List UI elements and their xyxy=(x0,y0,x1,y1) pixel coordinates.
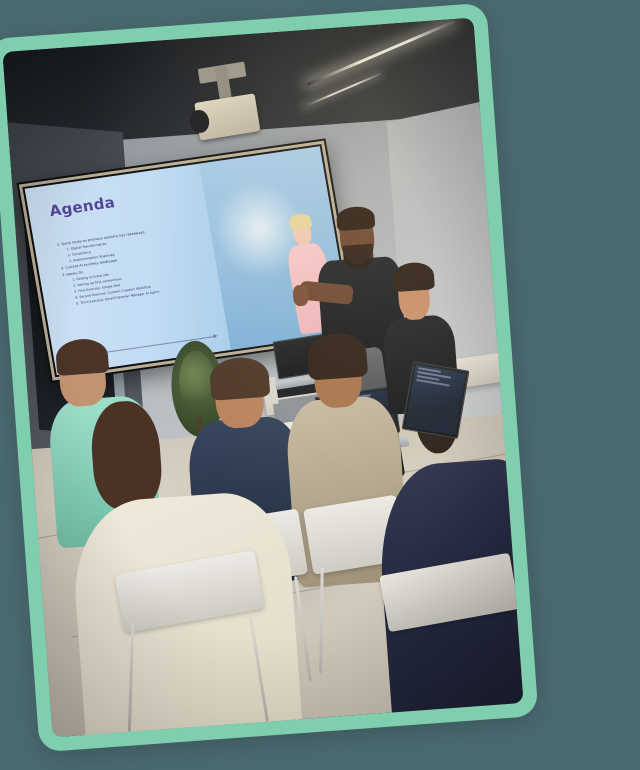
laptop-screen xyxy=(401,361,468,438)
chair-leg xyxy=(319,567,323,673)
workshop-photo: Agenda 1. Quick recap on previous sessio… xyxy=(2,18,523,738)
chair-leg xyxy=(128,623,134,732)
attendee-laptop-far-right xyxy=(401,361,468,438)
presenter-hand xyxy=(292,285,309,307)
photo-card-frame: Agenda 1. Quick recap on previous sessio… xyxy=(0,3,539,753)
screenshot-stage: Agenda 1. Quick recap on previous sessio… xyxy=(0,0,640,770)
chair xyxy=(381,559,523,719)
laptop-screen-ui xyxy=(405,364,466,434)
presenter-hair xyxy=(336,206,375,231)
chair xyxy=(116,557,269,732)
attendee-hair xyxy=(392,262,435,292)
slide-title: Agenda xyxy=(48,193,116,220)
